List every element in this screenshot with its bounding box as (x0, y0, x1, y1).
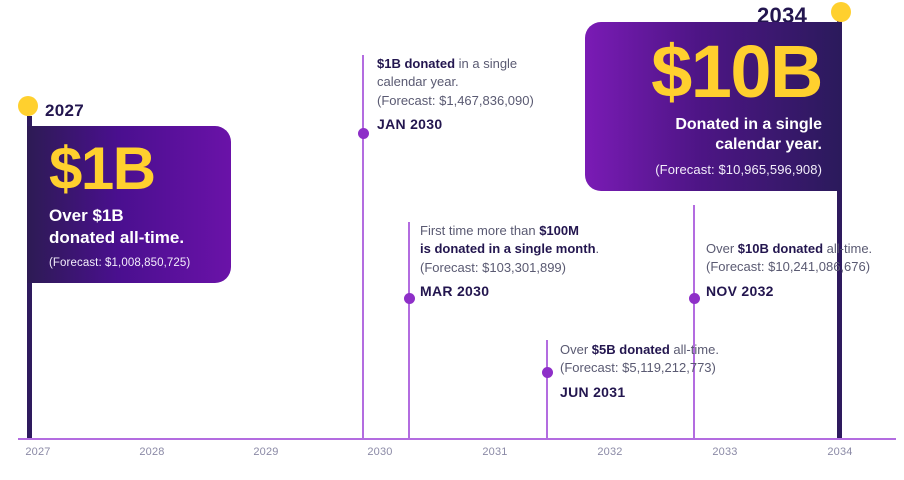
annotation-jun-2031-forecast: (Forecast: $5,119,212,773) (560, 359, 719, 377)
annotation-jan-2030-forecast: (Forecast: $1,467,836,090) (377, 92, 534, 110)
axis-tick-2034: 2034 (827, 446, 852, 458)
year-label-2027: 2027 (45, 101, 84, 121)
card-amount-2027: $1B (49, 140, 213, 199)
axis-tick-2029: 2029 (253, 446, 278, 458)
annotation-mar-2030: First time more than $100M is donated in… (420, 222, 599, 299)
milestone-dot-mar-2030 (404, 293, 415, 304)
milestone-dot-jan-2030 (358, 128, 369, 139)
milestone-card-2027: $1B Over $1B donated all-time. (Forecast… (27, 126, 231, 283)
milestone-dot-2034 (831, 2, 851, 22)
axis-tick-2032: 2032 (597, 446, 622, 458)
axis-tick-2033: 2033 (712, 446, 737, 458)
annotation-jan-2030: $1B donated in a single calendar year. (… (377, 55, 534, 132)
annotation-nov-2032-bold: $10B donated (738, 241, 823, 256)
annotation-mar-2030-date: MAR 2030 (420, 283, 599, 299)
card-forecast-2027: (Forecast: $1,008,850,725) (49, 257, 213, 269)
card-desc-line1: Over $1B (49, 205, 213, 227)
timeline-axis (18, 438, 896, 440)
annotation-jun-2031-bold: $5B donated (592, 342, 670, 357)
stem-jan-2030 (362, 55, 364, 440)
annotation-jan-2030-bold: $1B donated (377, 56, 455, 71)
annotation-jan-2030-line2: calendar year. (377, 73, 534, 91)
stem-mar-2030 (408, 222, 410, 440)
timeline-infographic: 2027 2028 2029 2030 2031 2032 2033 2034 … (0, 0, 904, 480)
card-forecast-2034: (Forecast: $10,965,596,908) (607, 162, 822, 177)
card-desc-line2: calendar year. (607, 135, 822, 155)
card-amount-2034: $10B (607, 36, 822, 109)
annotation-nov-2032-text: Over $10B donated all-time. (Forecast: $… (706, 240, 872, 277)
card-description-2034: Donated in a single calendar year. (607, 115, 822, 156)
annotation-jun-2031-lead: Over (560, 342, 592, 357)
annotation-nov-2032: Over $10B donated all-time. (Forecast: $… (706, 240, 872, 299)
axis-tick-2027: 2027 (25, 446, 50, 458)
annotation-nov-2032-tail: all-time. (823, 241, 872, 256)
stem-nov-2032 (693, 205, 695, 440)
axis-tick-2030: 2030 (367, 446, 392, 458)
axis-tick-2031: 2031 (482, 446, 507, 458)
milestone-dot-nov-2032 (689, 293, 700, 304)
milestone-card-2034: $10B Donated in a single calendar year. … (585, 22, 840, 191)
annotation-jun-2031-tail: all-time. (670, 342, 719, 357)
milestone-dot-2027 (18, 96, 38, 116)
annotation-jun-2031: Over $5B donated all-time. (Forecast: $5… (560, 341, 719, 400)
card-description-2027: Over $1B donated all-time. (49, 205, 213, 249)
annotation-mar-2030-lead: First time more than (420, 223, 539, 238)
annotation-jun-2031-text: Over $5B donated all-time. (Forecast: $5… (560, 341, 719, 378)
annotation-mar-2030-forecast: (Forecast: $103,301,899) (420, 259, 599, 277)
annotation-jun-2031-date: JUN 2031 (560, 384, 719, 400)
stem-jun-2031 (546, 340, 548, 440)
card-desc-line2: donated all-time. (49, 227, 213, 249)
annotation-jan-2030-text: $1B donated in a single calendar year. (… (377, 55, 534, 110)
annotation-jan-2030-rest: in a single (455, 56, 517, 71)
annotation-mar-2030-text: First time more than $100M is donated in… (420, 222, 599, 277)
annotation-mar-2030-bold2: is donated in a single month (420, 241, 596, 256)
milestone-dot-jun-2031 (542, 367, 553, 378)
annotation-nov-2032-forecast: (Forecast: $10,241,086,676) (706, 258, 872, 276)
annotation-mar-2030-bold1: $100M (539, 223, 579, 238)
axis-tick-2028: 2028 (139, 446, 164, 458)
annotation-nov-2032-lead: Over (706, 241, 738, 256)
annotation-nov-2032-date: NOV 2032 (706, 283, 872, 299)
annotation-jan-2030-date: JAN 2030 (377, 116, 534, 132)
annotation-mar-2030-tail: . (596, 241, 600, 256)
card-desc-line1: Donated in a single (607, 115, 822, 135)
